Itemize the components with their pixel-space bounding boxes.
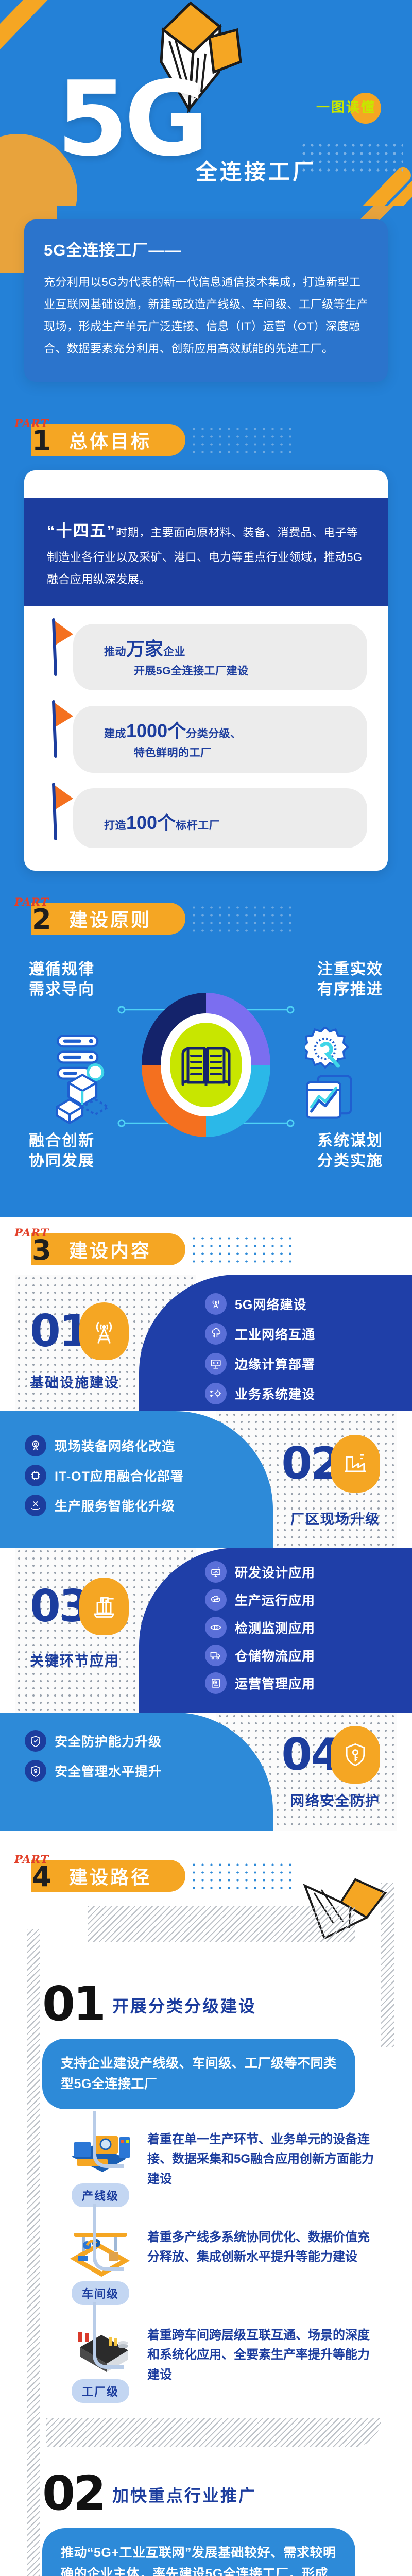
part-title: 总体目标	[69, 427, 169, 453]
block-item-list: 5G网络建设 工业网络互通 边缘计算部署 业务系统建设	[205, 1293, 315, 1404]
intro-heading: 5G全连接工厂——	[44, 237, 368, 260]
goals-rows: 推动万家企业 开展5G全连接工厂建设 建成1000个分类分级、 特色鲜明的工厂	[24, 606, 388, 871]
goal-highlight: 万家	[126, 638, 163, 659]
content-item-label: 现场装备网络化改造	[55, 1436, 175, 1455]
content-item-label: 工业网络互通	[235, 1325, 315, 1343]
lab-equipment-icon	[79, 1578, 129, 1635]
principles-hub	[136, 988, 276, 1142]
block-number-badge: 02	[281, 1435, 380, 1493]
section-build-principles: 建设原则 PART 2 遵循规律 需求导向	[0, 891, 412, 1217]
decor-stripe	[0, 0, 76, 63]
shield-lock-icon	[25, 1760, 46, 1782]
part-number: 2	[32, 906, 51, 934]
content-item-label: 安全管理水平提升	[55, 1761, 162, 1780]
content-item-label: 研发设计应用	[235, 1563, 315, 1581]
shield-key-icon	[331, 1726, 380, 1784]
block-item-list: 研发设计应用 生产运行应用 检测监测应用 仓储物流应用 运营管理应用	[205, 1561, 315, 1694]
content-item-label: 生产运行应用	[235, 1590, 315, 1609]
tier-production-line: 产线级 着重在单一生产环节、业务单元的设备连接、数据采集和5G融合应用创新方面能…	[62, 2127, 381, 2207]
connector-elbow	[93, 2302, 124, 2369]
content-item-label: 边缘计算部署	[235, 1354, 315, 1373]
principle-line1: 融合创新	[29, 1131, 95, 1151]
decor-dot-grid	[190, 425, 293, 456]
decor-dot-grid	[190, 904, 293, 935]
decor-hatch	[46, 2418, 381, 2447]
design-monitor-icon	[205, 1561, 227, 1583]
block-number-badge: 01	[30, 1302, 129, 1360]
content-item: 边缘计算部署	[205, 1353, 315, 1375]
goal-line-primary: 建成1000个分类分级、	[104, 717, 352, 745]
goal-line-secondary: 开展5G全连接工厂建设	[104, 663, 352, 680]
decor-dot-grid	[190, 1861, 293, 1892]
tier-chip: 产线级	[72, 2183, 129, 2207]
content-item: 仓储物流应用	[205, 1645, 315, 1666]
path-step-02-header: 02 加快重点行业推广	[0, 2452, 412, 2514]
content-item: 检测监测应用	[205, 1617, 315, 1638]
goal-lead: 建成	[104, 728, 126, 740]
intro-body: 充分利用以5G为代表的新一代信息通信技术集成，打造新型工业互联网基础设施，新建或…	[44, 272, 368, 360]
content-item: 生产服务智能化升级	[25, 1495, 184, 1516]
truck-icon	[205, 1645, 227, 1666]
goal-tail: 企业	[163, 646, 185, 658]
infographic-page: 5G 一图读懂 全连接工厂 建设指南 5G全连接工厂—— 充分利用以5G为代表的…	[0, 0, 412, 2576]
content-item: IT-OT应用融合化部署	[25, 1465, 184, 1486]
principle-label-2: 注重实效 有序推进	[317, 959, 383, 1000]
block-title: 关键环节应用	[30, 1650, 119, 1670]
path-divider	[0, 2403, 412, 2452]
part-plate: 总体目标	[31, 424, 185, 456]
flag-icon	[47, 781, 78, 843]
goals-banner: “十四五”时期，主要面向原材料、装备、消费品、电子等制造业各行业以及采矿、港口、…	[24, 498, 388, 606]
principle-label-1: 遵循规律 需求导向	[29, 959, 95, 1000]
goals-period: “十四五”	[47, 522, 116, 540]
monitor-code-icon	[205, 1353, 227, 1375]
part-header-2: 建设原则 PART 2	[0, 894, 412, 944]
principles-diagram: 遵循规律 需求导向 注重实效 有序推进 融合创新 协同发展 系统谋划 分类实施	[0, 944, 412, 1186]
block-number-badge: 03	[30, 1578, 129, 1635]
goal-highlight: 1000个	[126, 720, 186, 741]
principle-line2: 需求导向	[29, 979, 95, 1000]
content-item: 运营管理应用	[205, 1672, 315, 1694]
path-step-number: 01	[42, 1984, 104, 2024]
path-step-title: 开展分类分级建设	[112, 1993, 256, 2024]
path-step-number: 02	[42, 2473, 104, 2514]
connector-elbow	[93, 2111, 124, 2168]
hero-eyebrow: 一图读懂	[316, 97, 376, 116]
part-title: 建设内容	[69, 1236, 169, 1263]
antenna-tower-icon	[79, 1302, 129, 1360]
content-item: 安全防护能力升级	[25, 1730, 162, 1752]
tier-desc: 着重在单一生产环节、业务单元的设备连接、数据采集和5G融合应用创新方面能力建设	[147, 2127, 381, 2189]
part-number: 4	[32, 1863, 51, 1891]
goal-line-primary: 打造100个标杆工厂	[104, 800, 352, 837]
goal-lead: 打造	[104, 820, 126, 832]
connector-elbow	[93, 2204, 124, 2271]
tier-workshop: 车间级 着重多产线多系统协同优化、数据价值充分释放、集成创新水平提升等能力建设	[62, 2225, 381, 2305]
path-step-01-header: 01 开展分类分级建设	[0, 1963, 412, 2024]
report-chart-icon	[205, 1672, 227, 1694]
content-item: 业务系统建设	[205, 1383, 315, 1404]
ot-chip-icon	[25, 1465, 46, 1486]
hero-title: 全连接工厂	[196, 155, 317, 186]
part-plate: 建设路径	[31, 1860, 185, 1892]
factory-icon	[331, 1435, 380, 1493]
block-item-list: 现场装备网络化改造 IT-OT应用融合化部署 生产服务智能化升级	[25, 1435, 184, 1516]
content-item-label: 运营管理应用	[235, 1674, 315, 1692]
content-block-04: 04 网络安全防护 安全防护能力升级 安全管理水平提升	[0, 1713, 412, 1831]
gear-node-icon	[205, 1383, 227, 1404]
goals-card: “十四五”时期，主要面向原材料、装备、消费品、电子等制造业各行业以及采矿、港口、…	[24, 470, 388, 871]
tier-desc: 着重跨车间跨层级互联互通、场景的深度和系统化应用、全要素生产率提升等能力建设	[147, 2323, 381, 2385]
part-number: 1	[32, 427, 51, 455]
block-title: 基础设施建设	[30, 1371, 119, 1392]
content-block-02: 02 厂区现场升级 现场装备网络化改造 IT-OT应用融合化部署	[0, 1411, 412, 1548]
content-item: 5G网络建设	[205, 1293, 315, 1315]
decor-hatch	[88, 1906, 355, 1942]
part-title: 建设原则	[69, 905, 169, 932]
goal-row: 建成1000个分类分级、 特色鲜明的工厂	[73, 706, 367, 773]
part-title: 建设路径	[69, 1862, 169, 1889]
content-item: 工业网络互通	[205, 1323, 315, 1345]
eye-icon	[205, 1617, 227, 1638]
content-block-03: 03 关键环节应用 研发设计应用 生产运行应用	[0, 1548, 412, 1713]
content-item-label: IT-OT应用融合化部署	[55, 1466, 184, 1485]
wireless-device-icon	[25, 1435, 46, 1456]
process-cloud-icon	[205, 1589, 227, 1611]
block-number-badge: 04	[281, 1726, 380, 1784]
principle-line2: 有序推进	[317, 979, 383, 1000]
hero-5g-logo: 5G	[57, 76, 204, 163]
tier-factory: 工厂级 着重跨车间跨层级互联互通、场景的深度和系统化应用、全要素生产率提升等能力…	[62, 2323, 381, 2403]
hero-banner: 5G 一图读懂 全连接工厂 建设指南	[0, 0, 412, 206]
goal-tail: 分类分级、	[186, 728, 242, 740]
content-item-label: 业务系统建设	[235, 1384, 315, 1403]
content-item: 现场装备网络化改造	[25, 1435, 184, 1456]
intro-card: 5G全连接工厂—— 充分利用以5G为代表的新一代信息通信技术集成，打造新型工业互…	[24, 219, 388, 382]
content-item: 安全管理水平提升	[25, 1760, 162, 1782]
path-step-title: 加快重点行业推广	[112, 2483, 256, 2514]
goal-row: 打造100个标杆工厂	[73, 788, 367, 848]
card-top-spacer	[24, 470, 388, 498]
content-item-label: 检测监测应用	[235, 1618, 315, 1637]
part-header-1: 总体目标 PART 1	[0, 416, 412, 465]
content-block-01: 01 基础设施建设 5G网络建设 工业	[0, 1275, 412, 1411]
path-decor-rocket-area	[0, 1901, 412, 1963]
content-item: 研发设计应用	[205, 1561, 315, 1583]
tier-desc: 着重多产线多系统协同优化、数据价值充分释放、集成创新水平提升等能力建设	[147, 2225, 381, 2267]
goal-tail: 标杆工厂	[176, 820, 220, 832]
shield-check-icon	[25, 1730, 46, 1752]
part-number: 3	[32, 1236, 51, 1264]
content-item-label: 仓储物流应用	[235, 1646, 315, 1665]
goal-row: 推动万家企业 开展5G全连接工厂建设	[73, 624, 367, 691]
section-build-path: 建设路径 PART 4 01 开展分类分级建设 支	[0, 1852, 412, 2576]
tier-chip: 工厂级	[72, 2379, 129, 2403]
content-item-label: 安全防护能力升级	[55, 1732, 162, 1750]
goal-lead: 推动	[104, 646, 126, 658]
principle-label-3: 融合创新 协同发展	[29, 1131, 95, 1172]
content-item-label: 5G网络建设	[235, 1295, 306, 1313]
block-title: 网络安全防护	[290, 1790, 380, 1810]
signal-tower-icon	[205, 1293, 227, 1315]
principle-line2: 协同发展	[29, 1151, 95, 1172]
principle-label-4: 系统谋划 分类实施	[317, 1131, 383, 1172]
block-item-list: 安全防护能力升级 安全管理水平提升	[25, 1730, 162, 1782]
part-plate: 建设原则	[31, 903, 185, 935]
hand-service-icon	[25, 1495, 46, 1516]
principle-line1: 注重实效	[317, 959, 383, 980]
block-title: 厂区现场升级	[290, 1508, 380, 1528]
decor-dot-grid	[190, 1234, 293, 1265]
section-overall-goals: 总体目标 PART 1 “十四五”时期，主要面向原材料、装备、消费品、电子等制造…	[0, 402, 412, 891]
principle-line1: 系统谋划	[317, 1131, 383, 1151]
goal-highlight: 100个	[126, 812, 176, 833]
flag-icon	[47, 699, 78, 760]
content-item-label: 生产服务智能化升级	[55, 1496, 175, 1515]
principle-line2: 分类实施	[317, 1151, 383, 1172]
path-step-01-pill: 支持企业建设产线级、车间级、工厂级等不同类型5G全连接工厂	[42, 2039, 355, 2109]
part-plate: 建设内容	[31, 1233, 185, 1265]
cloud-sync-icon	[205, 1323, 227, 1345]
chart-window-icon	[303, 1071, 356, 1124]
flag-icon	[47, 617, 78, 679]
part-header-3: 建设内容 PART 3	[0, 1225, 412, 1275]
path-step-02-pill: 推动“5G+工业互联网”发展基础较好、需求较明确的企业主体，率先建设5G全连接工…	[42, 2528, 355, 2576]
principle-line1: 遵循规律	[29, 959, 95, 980]
intro-section: 5G全连接工厂—— 充分利用以5G为代表的新一代信息通信技术集成，打造新型工业互…	[0, 206, 412, 402]
tier-chip: 车间级	[72, 2281, 129, 2305]
content-item: 生产运行应用	[205, 1589, 315, 1611]
goal-line-secondary: 特色鲜明的工厂	[104, 745, 352, 761]
cubes-icon	[56, 1072, 109, 1125]
goal-line-primary: 推动万家企业	[104, 635, 352, 663]
section-build-content: 建设内容 PART 3 01 基础设施建设	[0, 1217, 412, 1836]
